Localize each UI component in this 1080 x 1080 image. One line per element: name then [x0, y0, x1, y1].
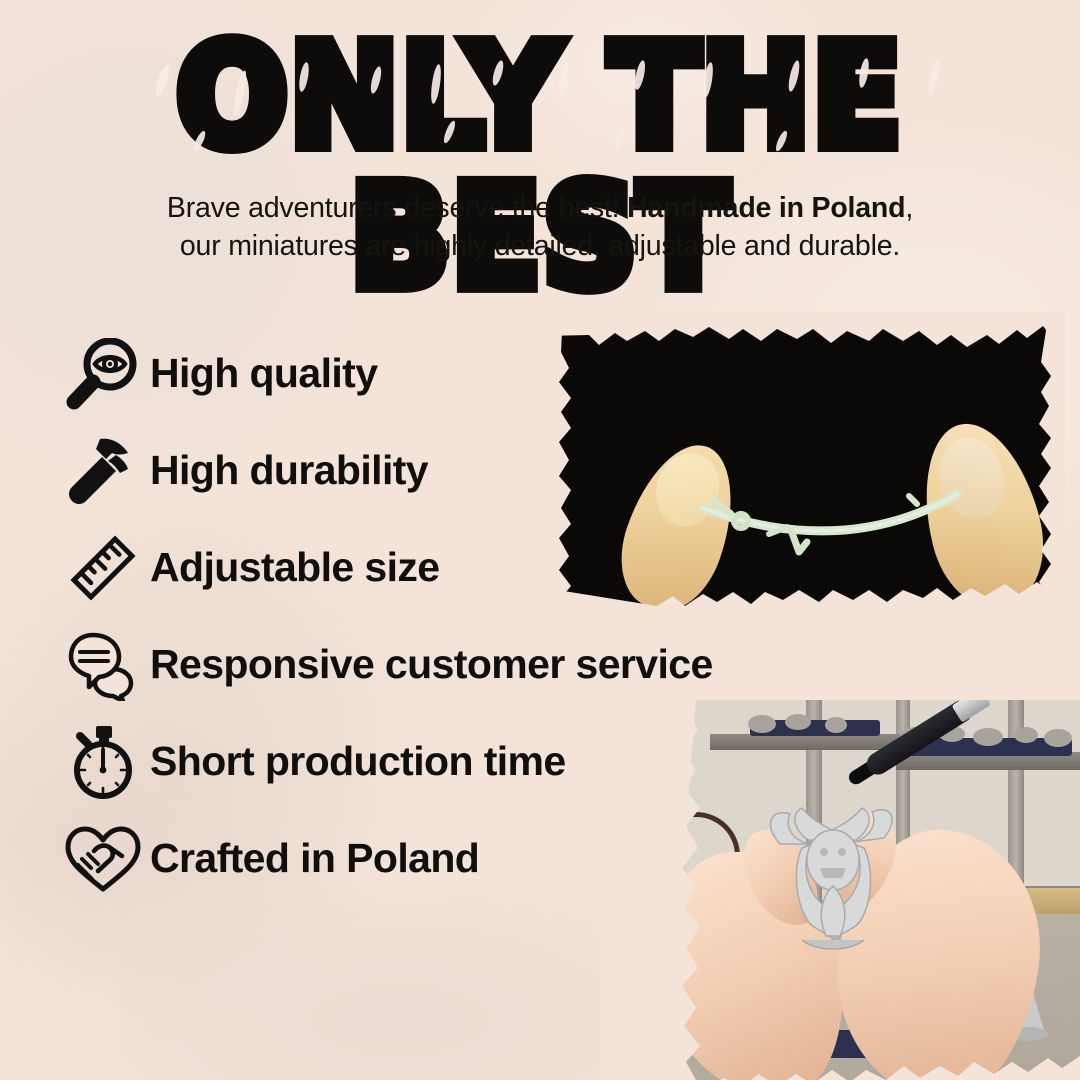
feature-label: High durability: [150, 447, 428, 494]
feature-list: High quality High durability: [60, 325, 820, 907]
feature-label: Responsive customer service: [150, 641, 713, 688]
speech-bubbles-icon: [60, 626, 146, 704]
subtitle-line-2: our miniatures are highly detailed, adju…: [90, 228, 990, 266]
feature-label: High quality: [150, 350, 377, 397]
stopwatch-icon: [60, 723, 146, 801]
feature-item: Crafted in Poland: [60, 810, 820, 907]
feature-label: Short production time: [150, 738, 566, 785]
subtitle-line-1-prefix: Brave adventurers deserve the best!: [167, 192, 627, 224]
feature-item: High durability: [60, 422, 820, 519]
heart-handshake-icon: [60, 820, 146, 898]
magnifier-eye-icon: [60, 335, 146, 413]
feature-item: Responsive customer service: [60, 616, 820, 713]
subtitle: Brave adventurers deserve the best! Hand…: [90, 190, 990, 265]
headline-text: ONLY THE BEST: [0, 27, 1080, 309]
hammer-icon: [60, 432, 146, 510]
feature-label: Adjustable size: [150, 544, 439, 591]
subtitle-highlight: Handmade in Poland: [627, 192, 905, 224]
feature-label: Crafted in Poland: [150, 835, 479, 882]
subtitle-line-1: Brave adventurers deserve the best! Hand…: [90, 190, 990, 228]
feature-item: Short production time: [60, 713, 820, 810]
feature-item: Adjustable size: [60, 519, 820, 616]
poster-canvas: ONLY THE BEST Brave adventurers deserve …: [0, 0, 1080, 1080]
subtitle-line-1-suffix: ,: [905, 192, 913, 224]
ruler-icon: [60, 529, 146, 607]
feature-item: High quality: [60, 325, 820, 422]
